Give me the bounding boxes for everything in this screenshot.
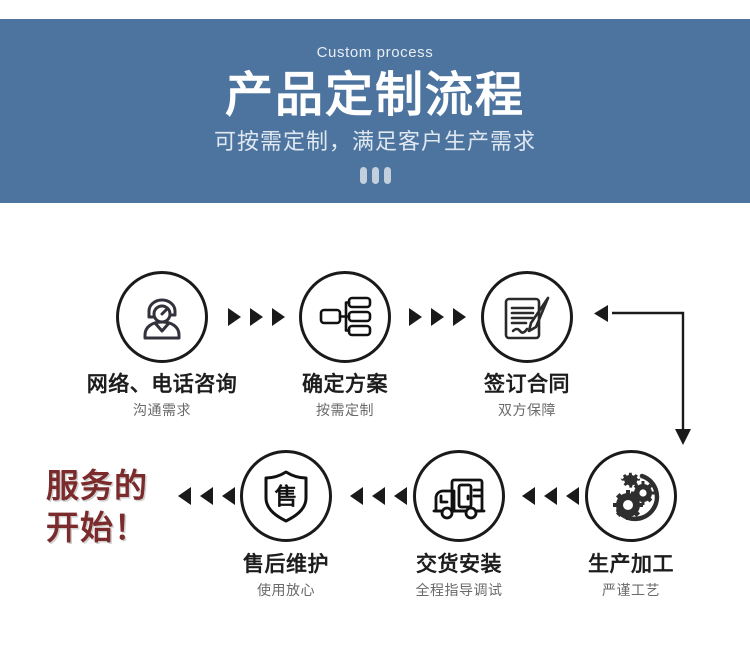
dot-bar-2 <box>372 167 379 184</box>
headset-person-icon <box>133 288 191 346</box>
triangle-left-icon <box>222 487 235 505</box>
flow-step-3-icon-circle <box>481 271 573 363</box>
flow-step-6-title: 售后维护 <box>186 553 386 577</box>
banner-eyebrow: Custom process <box>0 45 750 60</box>
arrows-production-to-delivery <box>522 487 579 505</box>
flowchart-icon <box>316 288 374 346</box>
triangle-right-icon <box>272 308 285 326</box>
triangle-right-icon <box>453 308 466 326</box>
shield-glyph-label: 售 <box>275 483 298 509</box>
flow-step-1-caption: 网络、电话咨询 沟通需求 <box>62 373 262 418</box>
triangle-left-icon <box>350 487 363 505</box>
flow-step-4-icon-circle <box>585 450 677 542</box>
triangle-left-icon <box>200 487 213 505</box>
triangle-right-icon <box>431 308 444 326</box>
flow-step-3-subtitle: 双方保障 <box>427 402 627 418</box>
gears-icon <box>602 467 660 525</box>
circle-outline-1 <box>116 271 208 363</box>
flow-step-2-icon-circle <box>299 271 391 363</box>
flow-step-1-icon-circle <box>116 271 208 363</box>
circle-outline-5 <box>413 450 505 542</box>
triangle-left-icon <box>522 487 535 505</box>
flow-step-1-subtitle: 沟通需求 <box>62 402 262 418</box>
circle-outline-3 <box>481 271 573 363</box>
triangle-left-icon <box>372 487 385 505</box>
contract-pen-icon <box>498 288 556 346</box>
flow-step-3-caption: 签订合同 双方保障 <box>427 373 627 418</box>
triangle-right-icon <box>250 308 263 326</box>
flow-step-6-subtitle: 使用放心 <box>186 582 386 598</box>
shield-after-sales-icon: 售 <box>258 468 314 524</box>
flow-step-4-title: 生产加工 <box>531 553 731 577</box>
flow-step-3-title: 签订合同 <box>427 373 627 397</box>
triangle-left-icon <box>178 487 191 505</box>
flow-step-2-subtitle: 按需定制 <box>245 402 445 418</box>
flow-step-5-subtitle: 全程指导调试 <box>359 582 559 598</box>
flow-step-4-subtitle: 严谨工艺 <box>531 582 731 598</box>
flow-step-6-caption: 售后维护 使用放心 <box>186 553 386 598</box>
service-start-line-1: 服务的 <box>46 465 148 507</box>
flow-step-5-caption: 交货安装 全程指导调试 <box>359 553 559 598</box>
product-customization-flow-page: Custom process 产品定制流程 可按需定制，满足客户生产需求 <box>0 0 750 657</box>
triangle-right-icon <box>409 308 422 326</box>
arrows-aftersales-to-service <box>178 487 235 505</box>
banner-subtitle: 可按需定制，满足客户生产需求 <box>0 129 750 155</box>
banner-dots-decoration <box>0 167 750 184</box>
flow-step-5-icon-circle <box>413 450 505 542</box>
arrows-step1-to-step2 <box>228 308 285 326</box>
flow-step-6-icon-circle: 售 <box>240 450 332 542</box>
circle-outline-4 <box>585 450 677 542</box>
arrows-delivery-to-aftersales <box>350 487 407 505</box>
page-title: 产品定制流程 <box>0 69 750 123</box>
triangle-left-icon <box>544 487 557 505</box>
service-start-line-2: 开始！ <box>46 507 148 549</box>
triangle-right-icon <box>228 308 241 326</box>
flow-step-4-caption: 生产加工 严谨工艺 <box>531 553 731 598</box>
delivery-truck-icon <box>430 467 488 525</box>
triangle-left-icon <box>394 487 407 505</box>
flow-step-2-caption: 确定方案 按需定制 <box>245 373 445 418</box>
header-banner: Custom process 产品定制流程 可按需定制，满足客户生产需求 <box>0 19 750 203</box>
circle-outline-6: 售 <box>240 450 332 542</box>
service-start-text: 服务的 开始！ <box>46 465 148 549</box>
dot-bar-3 <box>384 167 391 184</box>
circle-outline-2 <box>299 271 391 363</box>
arrows-step2-to-step3 <box>409 308 466 326</box>
dot-bar-1 <box>360 167 367 184</box>
flow-step-1-title: 网络、电话咨询 <box>62 373 262 397</box>
flow-step-5-title: 交货安装 <box>359 553 559 577</box>
flow-step-2-title: 确定方案 <box>245 373 445 397</box>
triangle-left-icon <box>566 487 579 505</box>
flow-diagram: 网络、电话咨询 沟通需求 确定方案 按需定制 签订合同 双方保障 售 <box>0 203 750 657</box>
